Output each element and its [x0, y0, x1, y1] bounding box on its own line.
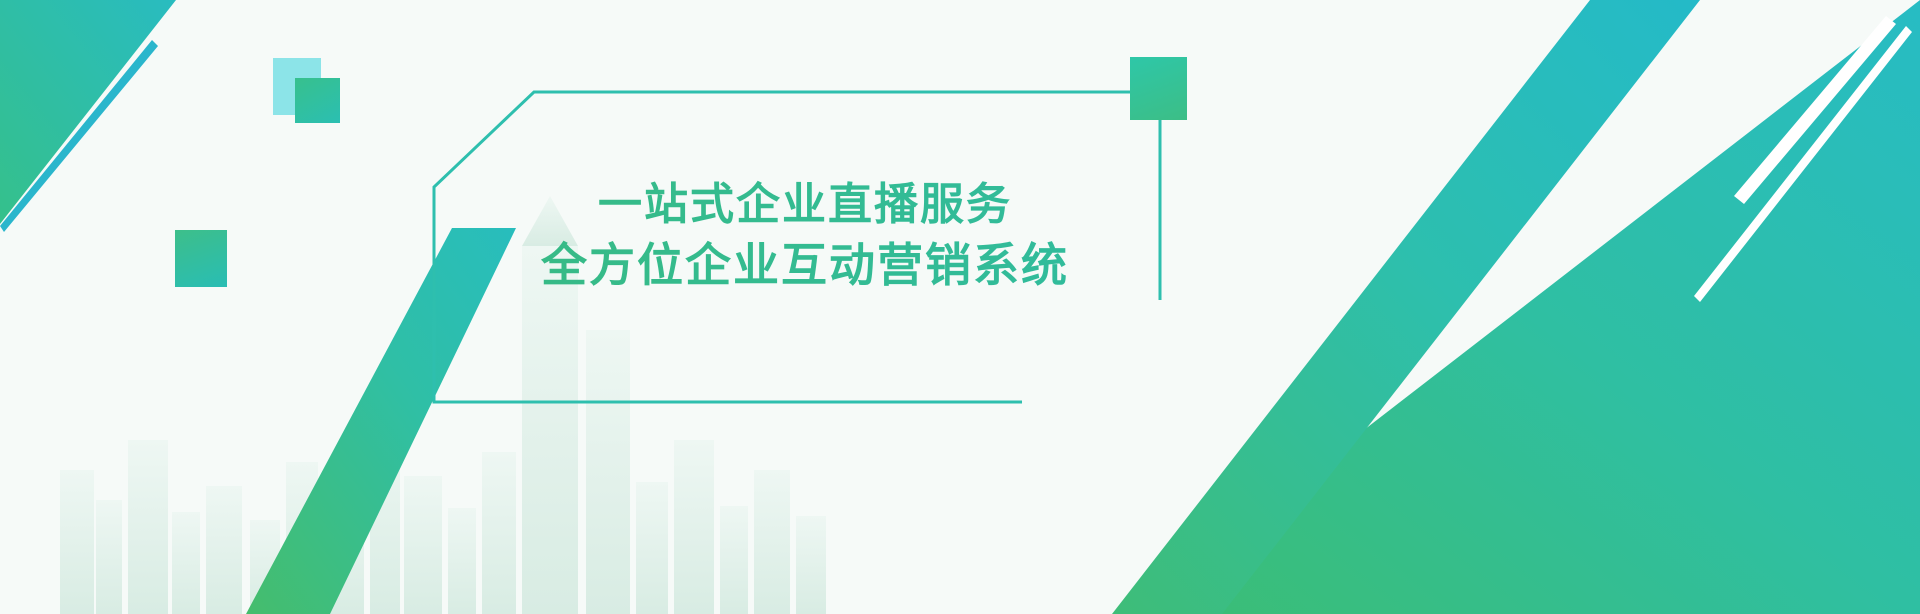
square-green-left	[175, 230, 227, 287]
square-green-right	[1130, 57, 1187, 120]
promo-banner: 一站式企业直播服务 全方位企业互动营销系统	[0, 0, 1920, 614]
square-green-small	[295, 78, 340, 123]
